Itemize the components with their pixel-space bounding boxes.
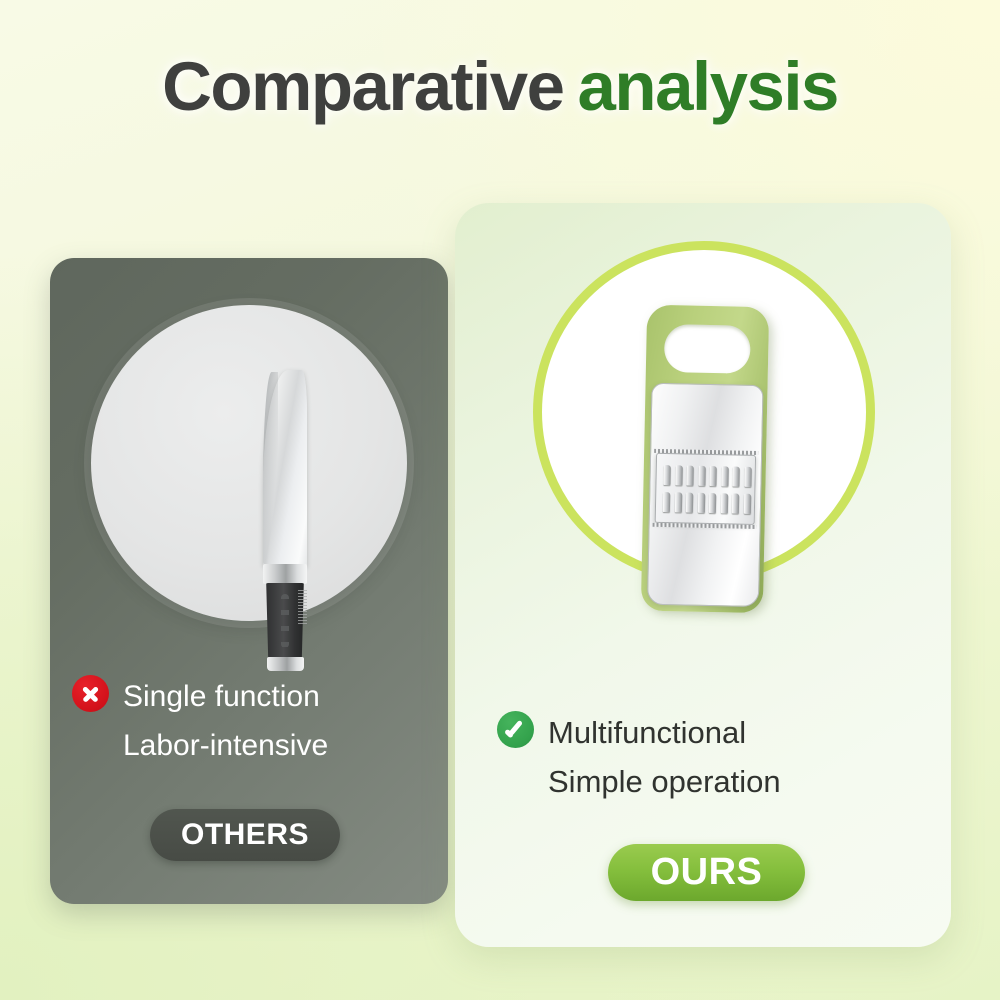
grater-tooth (721, 466, 728, 486)
green-check-icon (497, 711, 534, 748)
others-feature-list: Single function Labor-intensive (72, 672, 328, 770)
grater-tooth (663, 465, 670, 485)
knife-handle-texture (298, 590, 307, 624)
others-badge: OTHERS (150, 809, 340, 861)
grater-teeth-row-1 (663, 465, 751, 487)
grater-tooth (663, 492, 670, 512)
chef-knife-image (241, 370, 341, 670)
ours-feature-text: Multifunctional Simple operation (548, 708, 781, 806)
others-feature-row: Single function Labor-intensive (72, 672, 328, 770)
grater-hanging-hole (664, 324, 751, 374)
others-card: Single function Labor-intensive (50, 258, 448, 904)
handheld-flat-grater-image (641, 305, 779, 614)
others-feature-2: Labor-intensive (123, 721, 328, 770)
grater-tooth (674, 492, 681, 512)
ours-feature-row: Multifunctional Simple operation (497, 708, 781, 806)
knife-bolster-bottom (267, 657, 304, 671)
grater-tooth (698, 466, 705, 486)
grater-tooth (732, 493, 739, 513)
grater-tooth (710, 466, 717, 486)
grater-teeth-row-2 (663, 492, 751, 514)
grater-tooth (687, 466, 694, 486)
knife-blade-edge (263, 372, 278, 564)
grater-tooth (744, 494, 751, 514)
others-feature-text: Single function Labor-intensive (123, 672, 328, 770)
ours-badge: OURS (608, 844, 805, 901)
ours-card: Multifunctional Simple operation (455, 203, 951, 947)
knife-handle-rivets (281, 594, 289, 648)
red-x-icon (72, 675, 109, 712)
ours-feature-list: Multifunctional Simple operation (497, 708, 781, 806)
grater-tooth (709, 493, 716, 513)
page-title: Comparativeanalysis (0, 52, 1000, 121)
grater-tooth (698, 493, 705, 513)
grater-teeth-plate (655, 453, 756, 525)
grater-tooth (733, 466, 740, 486)
page-title-part-2: analysis (578, 48, 838, 125)
ours-feature-2: Simple operation (548, 757, 781, 806)
grater-tooth (686, 493, 693, 513)
others-product-stage (91, 305, 407, 621)
knife-bolster-top (263, 564, 307, 584)
grater-tooth (675, 465, 682, 485)
ours-feature-1: Multifunctional (548, 708, 781, 757)
ours-product-stage (533, 241, 875, 583)
page-title-part-1: Comparative (162, 48, 563, 125)
grater-tooth (744, 467, 751, 487)
others-feature-1: Single function (123, 672, 328, 721)
comparison-infographic: Comparativeanalysis Single function Labo… (0, 0, 1000, 1000)
grater-tooth (721, 493, 728, 513)
